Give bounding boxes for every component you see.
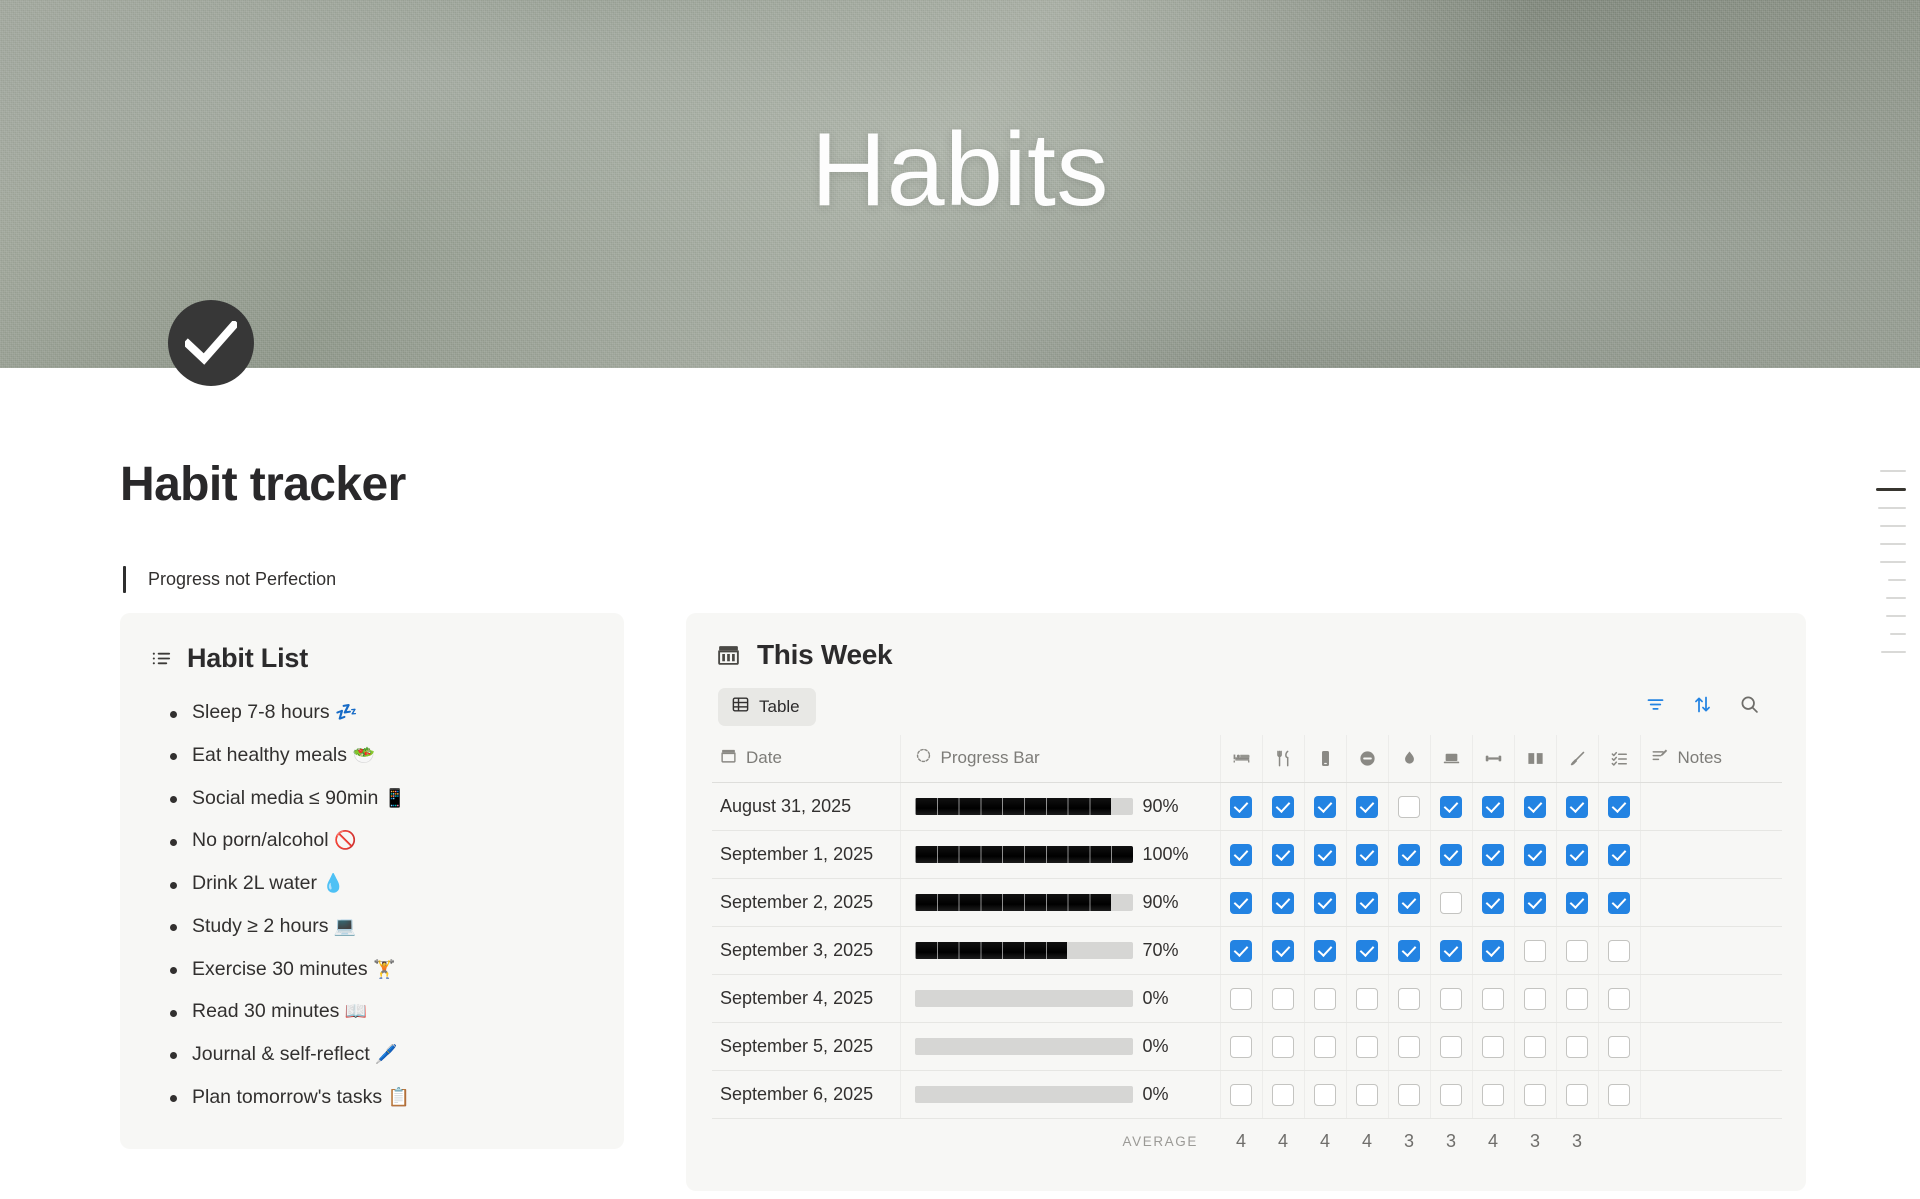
list-item: Study ≥ 2 hours 💻: [192, 905, 598, 948]
list-item: Read 30 minutes 📖: [192, 991, 598, 1034]
cell-checkbox[interactable]: [1598, 1071, 1640, 1119]
checkbox-checked[interactable]: [1566, 796, 1588, 818]
cell-checkbox[interactable]: [1430, 927, 1472, 975]
checkbox-checked[interactable]: [1440, 940, 1462, 962]
notes-icon: [1651, 747, 1669, 770]
checkbox-checked[interactable]: [1314, 940, 1336, 962]
quote-accent-bar: [123, 566, 126, 593]
checkbox-checked[interactable]: [1272, 892, 1294, 914]
cell-checkbox[interactable]: [1388, 879, 1430, 927]
checkbox-unchecked[interactable]: [1272, 1084, 1294, 1106]
habit-label: Exercise 30 minutes: [192, 958, 368, 980]
cell-checkbox[interactable]: [1220, 783, 1262, 831]
checkbox-checked[interactable]: [1524, 844, 1546, 866]
cell-checkbox[interactable]: [1598, 831, 1640, 879]
checkbox-checked[interactable]: [1314, 796, 1336, 818]
cover-banner: Habits: [0, 0, 1920, 368]
cell-checkbox[interactable]: [1388, 1023, 1430, 1071]
bulleted-list-icon: [150, 647, 173, 670]
checkbox-checked[interactable]: [1356, 796, 1378, 818]
cell-checkbox[interactable]: [1262, 975, 1304, 1023]
column-header-notes[interactable]: Notes: [1640, 735, 1782, 783]
cell-checkbox[interactable]: [1556, 975, 1598, 1023]
database-toolbar: Table: [712, 685, 1782, 729]
cell-checkbox[interactable]: [1220, 975, 1262, 1023]
checkbox-unchecked[interactable]: [1230, 1084, 1252, 1106]
check-circle-icon[interactable]: [168, 300, 254, 386]
average-row: AVERAGE 4 4 4 4 3 3 4 3 3: [712, 1119, 1782, 1165]
checkbox-unchecked[interactable]: [1566, 1036, 1588, 1058]
cell-checkbox[interactable]: [1514, 1071, 1556, 1119]
cell-checkbox[interactable]: [1346, 1071, 1388, 1119]
checkbox-unchecked[interactable]: [1524, 1084, 1546, 1106]
progress-bar-fill: [915, 942, 1068, 959]
average-value: 4: [1220, 1119, 1262, 1165]
cell-checkbox[interactable]: [1346, 975, 1388, 1023]
column-header-water[interactable]: [1388, 735, 1430, 783]
checkbox-unchecked[interactable]: [1398, 1084, 1420, 1106]
checkbox-checked[interactable]: [1398, 844, 1420, 866]
cell-checkbox[interactable]: [1430, 879, 1472, 927]
checkbox-unchecked[interactable]: [1524, 988, 1546, 1010]
habit-label: Eat healthy meals: [192, 744, 347, 766]
cell-progress: 0%: [900, 975, 1220, 1023]
cell-notes[interactable]: [1640, 831, 1782, 879]
outline-rail-item[interactable]: [1880, 525, 1906, 527]
cell-checkbox[interactable]: [1304, 927, 1346, 975]
checkbox-unchecked[interactable]: [1230, 988, 1252, 1010]
outline-rail[interactable]: [1876, 470, 1906, 653]
column-header-date-label: Date: [746, 748, 782, 768]
checkbox-unchecked[interactable]: [1482, 1036, 1504, 1058]
checkbox-checked[interactable]: [1230, 844, 1252, 866]
column-header-meals[interactable]: [1262, 735, 1304, 783]
cell-notes[interactable]: [1640, 975, 1782, 1023]
habit-label: Plan tomorrow's tasks: [192, 1086, 382, 1108]
column-header-progress[interactable]: Progress Bar: [900, 735, 1220, 783]
cell-progress: 70%: [900, 927, 1220, 975]
cell-checkbox[interactable]: [1598, 879, 1640, 927]
habit-emoji: 🏋️: [373, 959, 395, 979]
checkbox-checked[interactable]: [1272, 796, 1294, 818]
table-row[interactable]: September 2, 202590%: [712, 879, 1782, 927]
habit-emoji: 💧: [322, 873, 344, 893]
cell-progress: 90%: [900, 879, 1220, 927]
fork-knife-icon: [1263, 749, 1304, 768]
checkbox-unchecked[interactable]: [1566, 940, 1588, 962]
checkbox-checked[interactable]: [1482, 892, 1504, 914]
habit-emoji: 📖: [345, 1001, 367, 1021]
column-header-exercise[interactable]: [1472, 735, 1514, 783]
cell-checkbox[interactable]: [1388, 783, 1430, 831]
habit-emoji: 📋: [388, 1087, 410, 1107]
progress-percent: 0%: [1143, 1036, 1169, 1057]
checkbox-unchecked[interactable]: [1440, 1084, 1462, 1106]
checkbox-checked[interactable]: [1356, 892, 1378, 914]
average-value: 4: [1262, 1119, 1304, 1165]
calendar-icon: [716, 642, 741, 667]
cell-progress: 90%: [900, 783, 1220, 831]
outline-rail-item[interactable]: [1888, 579, 1906, 581]
habit-list-header: Habit List: [150, 643, 598, 674]
outline-rail-item[interactable]: [1880, 470, 1906, 472]
checkbox-checked[interactable]: [1566, 844, 1588, 866]
checkbox-checked[interactable]: [1314, 892, 1336, 914]
cell-checkbox[interactable]: [1598, 927, 1640, 975]
checkbox-checked[interactable]: [1272, 844, 1294, 866]
table-row[interactable]: September 1, 2025100%: [712, 831, 1782, 879]
table-row[interactable]: September 3, 202570%: [712, 927, 1782, 975]
list-item: No porn/alcohol 🚫: [192, 820, 598, 863]
quote-text: Progress not Perfection: [148, 569, 336, 590]
cell-checkbox[interactable]: [1388, 975, 1430, 1023]
checkbox-unchecked[interactable]: [1272, 988, 1294, 1010]
progress-bar: [915, 942, 1133, 959]
cell-checkbox[interactable]: [1598, 1023, 1640, 1071]
habit-label: Sleep 7-8 hours: [192, 701, 330, 723]
outline-rail-item[interactable]: [1886, 597, 1906, 599]
checkbox-unchecked[interactable]: [1356, 988, 1378, 1010]
tab-table-label: Table: [759, 697, 800, 717]
water-drop-icon: [1389, 749, 1430, 768]
cell-date[interactable]: September 3, 2025: [712, 927, 900, 975]
cell-checkbox[interactable]: [1346, 783, 1388, 831]
habit-emoji: 🖊️: [375, 1044, 397, 1064]
page-content: Habit tracker Progress not Perfection: [0, 456, 1920, 1199]
checkbox-checked[interactable]: [1356, 940, 1378, 962]
cell-checkbox[interactable]: [1220, 1023, 1262, 1071]
checkbox-unchecked[interactable]: [1482, 988, 1504, 1010]
progress-bar: [915, 1038, 1133, 1055]
column-header-plan[interactable]: [1598, 735, 1640, 783]
average-value: [1598, 1119, 1640, 1165]
habit-emoji: 🚫: [334, 830, 356, 850]
checkbox-unchecked[interactable]: [1482, 1084, 1504, 1106]
this-week-card: This Week Table: [686, 613, 1806, 1191]
table-footer: AVERAGE 4 4 4 4 3 3 4 3 3: [712, 1119, 1782, 1165]
cell-checkbox[interactable]: [1388, 1071, 1430, 1119]
progress-bar: [915, 1086, 1133, 1103]
open-book-icon: [1515, 749, 1556, 768]
cell-notes[interactable]: [1640, 927, 1782, 975]
table-row[interactable]: September 4, 20250%: [712, 975, 1782, 1023]
cell-checkbox[interactable]: [1514, 1023, 1556, 1071]
cell-checkbox[interactable]: [1514, 879, 1556, 927]
habit-items-list: Sleep 7-8 hours 💤 Eat healthy meals 🥗 So…: [150, 692, 598, 1119]
cell-progress: 0%: [900, 1071, 1220, 1119]
progress-percent: 70%: [1143, 940, 1179, 961]
checkbox-unchecked[interactable]: [1608, 1084, 1630, 1106]
habit-emoji: 💤: [335, 702, 357, 722]
progress-bar: [915, 894, 1133, 911]
table-icon: [731, 695, 750, 719]
habit-label: No porn/alcohol: [192, 829, 329, 851]
checkbox-checked[interactable]: [1230, 892, 1252, 914]
column-header-journal[interactable]: [1556, 735, 1598, 783]
habit-label: Study ≥ 2 hours: [192, 915, 328, 937]
paintbrush-icon: [1557, 749, 1598, 768]
cell-checkbox[interactable]: [1346, 1023, 1388, 1071]
habit-emoji: 📱: [384, 788, 406, 808]
checkbox-checked[interactable]: [1608, 892, 1630, 914]
progress-percent: 0%: [1143, 1084, 1169, 1105]
cell-notes[interactable]: [1640, 1023, 1782, 1071]
progress-bar: [915, 846, 1133, 863]
checkbox-unchecked[interactable]: [1608, 1036, 1630, 1058]
progress-bar-fill: [915, 894, 1111, 911]
checkbox-checked[interactable]: [1398, 892, 1420, 914]
cell-checkbox[interactable]: [1430, 783, 1472, 831]
average-value: 3: [1514, 1119, 1556, 1165]
cell-notes[interactable]: [1640, 1071, 1782, 1119]
progress-percent: 100%: [1143, 844, 1189, 865]
cell-checkbox[interactable]: [1304, 783, 1346, 831]
checkbox-unchecked[interactable]: [1440, 988, 1462, 1010]
cell-checkbox[interactable]: [1472, 783, 1514, 831]
list-item: Sleep 7-8 hours 💤: [192, 692, 598, 735]
column-header-read[interactable]: [1514, 735, 1556, 783]
toolbar-actions: [1645, 694, 1774, 720]
bed-icon: [1221, 749, 1262, 768]
average-value: 3: [1388, 1119, 1430, 1165]
cell-checkbox[interactable]: [1556, 927, 1598, 975]
cell-date[interactable]: September 6, 2025: [712, 1071, 900, 1119]
list-item: Social media ≤ 90min 📱: [192, 777, 598, 820]
table-body: August 31, 202590%September 1, 2025100%S…: [712, 783, 1782, 1119]
table-row[interactable]: September 6, 20250%: [712, 1071, 1782, 1119]
average-value: 3: [1556, 1119, 1598, 1165]
dumbbell-icon: [1473, 749, 1514, 768]
list-item: Journal & self-reflect 🖊️: [192, 1033, 598, 1076]
checkbox-checked[interactable]: [1482, 940, 1504, 962]
checkbox-unchecked[interactable]: [1398, 988, 1420, 1010]
cell-checkbox[interactable]: [1472, 927, 1514, 975]
checkbox-checked[interactable]: [1608, 844, 1630, 866]
checkbox-unchecked[interactable]: [1356, 1036, 1378, 1058]
checkbox-checked[interactable]: [1398, 940, 1420, 962]
checkbox-checked[interactable]: [1440, 796, 1462, 818]
cell-checkbox[interactable]: [1556, 879, 1598, 927]
checklist-icon: [1599, 749, 1640, 768]
cell-date[interactable]: September 2, 2025: [712, 879, 900, 927]
cell-checkbox[interactable]: [1430, 975, 1472, 1023]
cell-checkbox[interactable]: [1304, 879, 1346, 927]
checkbox-checked[interactable]: [1482, 844, 1504, 866]
checkbox-unchecked[interactable]: [1314, 988, 1336, 1010]
checkbox-unchecked[interactable]: [1566, 1084, 1588, 1106]
outline-rail-item[interactable]: [1881, 651, 1906, 653]
cell-checkbox[interactable]: [1472, 1023, 1514, 1071]
habit-table: Date Progress Bar: [712, 735, 1782, 1165]
cell-checkbox[interactable]: [1472, 879, 1514, 927]
checkbox-unchecked[interactable]: [1608, 940, 1630, 962]
cell-checkbox[interactable]: [1472, 1071, 1514, 1119]
progress-ring-icon: [915, 747, 932, 769]
column-header-study[interactable]: [1430, 735, 1472, 783]
cell-checkbox[interactable]: [1430, 1023, 1472, 1071]
checkbox-checked[interactable]: [1230, 796, 1252, 818]
cell-checkbox[interactable]: [1556, 783, 1598, 831]
search-icon[interactable]: [1739, 694, 1760, 720]
checkbox-unchecked[interactable]: [1314, 1036, 1336, 1058]
list-item: Drink 2L water 💧: [192, 863, 598, 906]
progress-bar: [915, 990, 1133, 1007]
checkbox-unchecked[interactable]: [1230, 1036, 1252, 1058]
average-value: 4: [1346, 1119, 1388, 1165]
list-item: Exercise 30 minutes 🏋️: [192, 948, 598, 991]
checkbox-checked[interactable]: [1356, 844, 1378, 866]
cell-checkbox[interactable]: [1346, 879, 1388, 927]
column-header-social[interactable]: [1304, 735, 1346, 783]
cell-checkbox[interactable]: [1220, 879, 1262, 927]
cell-date[interactable]: September 5, 2025: [712, 1023, 900, 1071]
column-header-notes-label: Notes: [1678, 748, 1722, 768]
progress-bar-fill: [915, 846, 1133, 863]
table-header: Date Progress Bar: [712, 735, 1782, 783]
progress-percent: 0%: [1143, 988, 1169, 1009]
cell-checkbox[interactable]: [1346, 831, 1388, 879]
average-value: 3: [1430, 1119, 1472, 1165]
content-columns: Habit List Sleep 7-8 hours 💤 Eat healthy…: [120, 613, 1920, 1191]
quote-block: Progress not Perfection: [123, 566, 1920, 593]
checkbox-checked[interactable]: [1314, 844, 1336, 866]
checkbox-unchecked[interactable]: [1524, 940, 1546, 962]
checkbox-checked[interactable]: [1566, 892, 1588, 914]
cell-checkbox[interactable]: [1430, 1071, 1472, 1119]
outline-rail-item-active[interactable]: [1876, 488, 1906, 491]
cell-checkbox[interactable]: [1220, 831, 1262, 879]
cell-progress: 100%: [900, 831, 1220, 879]
checkbox-unchecked[interactable]: [1524, 1036, 1546, 1058]
cell-notes[interactable]: [1640, 879, 1782, 927]
cell-checkbox[interactable]: [1304, 1023, 1346, 1071]
progress-percent: 90%: [1143, 796, 1179, 817]
cell-checkbox[interactable]: [1514, 831, 1556, 879]
cell-checkbox[interactable]: [1472, 831, 1514, 879]
outline-rail-item[interactable]: [1890, 633, 1906, 635]
checkbox-unchecked[interactable]: [1272, 1036, 1294, 1058]
column-header-sleep[interactable]: [1220, 735, 1262, 783]
checkbox-unchecked[interactable]: [1314, 1084, 1336, 1106]
cell-checkbox[interactable]: [1262, 879, 1304, 927]
phone-icon: [1305, 749, 1346, 768]
habit-emoji: 💻: [334, 916, 356, 936]
list-item: Plan tomorrow's tasks 📋: [192, 1076, 598, 1119]
cell-date[interactable]: September 4, 2025: [712, 975, 900, 1023]
average-label: AVERAGE: [900, 1119, 1220, 1165]
checkbox-unchecked[interactable]: [1356, 1084, 1378, 1106]
cell-checkbox[interactable]: [1346, 927, 1388, 975]
cell-checkbox[interactable]: [1304, 831, 1346, 879]
cell-checkbox[interactable]: [1262, 927, 1304, 975]
checkbox-unchecked[interactable]: [1608, 988, 1630, 1010]
laptop-icon: [1431, 749, 1472, 768]
cell-checkbox[interactable]: [1556, 831, 1598, 879]
checkbox-checked[interactable]: [1440, 844, 1462, 866]
cell-date[interactable]: August 31, 2025: [712, 783, 900, 831]
habit-list-card: Habit List Sleep 7-8 hours 💤 Eat healthy…: [120, 613, 624, 1149]
habit-label: Drink 2L water: [192, 872, 317, 894]
calendar-icon: [720, 747, 737, 769]
checkbox-unchecked[interactable]: [1440, 892, 1462, 914]
checkbox-unchecked[interactable]: [1440, 1036, 1462, 1058]
page-title: Habit tracker: [120, 456, 1920, 514]
checkbox-unchecked[interactable]: [1398, 796, 1420, 818]
checkbox-checked[interactable]: [1524, 796, 1546, 818]
cell-checkbox[interactable]: [1220, 1071, 1262, 1119]
cell-checkbox[interactable]: [1262, 783, 1304, 831]
cell-checkbox[interactable]: [1220, 927, 1262, 975]
cell-checkbox[interactable]: [1388, 927, 1430, 975]
outline-rail-item[interactable]: [1880, 561, 1906, 563]
average-notes-spacer: [1640, 1119, 1782, 1165]
ban-icon: [1347, 749, 1388, 768]
cell-checkbox[interactable]: [1262, 831, 1304, 879]
cell-checkbox[interactable]: [1598, 783, 1640, 831]
table-header-row: Date Progress Bar: [712, 735, 1782, 783]
cell-date[interactable]: September 1, 2025: [712, 831, 900, 879]
habit-label: Journal & self-reflect: [192, 1043, 370, 1065]
cell-checkbox[interactable]: [1430, 831, 1472, 879]
this-week-header: This Week: [712, 639, 1782, 671]
progress-bar: [915, 798, 1133, 815]
cell-checkbox[interactable]: [1514, 975, 1556, 1023]
cover-title: Habits: [0, 118, 1920, 222]
list-item: Eat healthy meals 🥗: [192, 734, 598, 777]
filter-icon[interactable]: [1645, 694, 1666, 720]
cell-checkbox[interactable]: [1556, 1071, 1598, 1119]
cell-checkbox[interactable]: [1556, 1023, 1598, 1071]
column-header-progress-label: Progress Bar: [941, 748, 1040, 768]
cell-checkbox[interactable]: [1262, 1023, 1304, 1071]
outline-rail-item[interactable]: [1880, 543, 1906, 545]
tab-table-view[interactable]: Table: [718, 688, 816, 726]
average-spacer: [712, 1119, 900, 1165]
progress-percent: 90%: [1143, 892, 1179, 913]
cell-checkbox[interactable]: [1304, 1071, 1346, 1119]
checkbox-checked[interactable]: [1524, 892, 1546, 914]
average-value: 4: [1472, 1119, 1514, 1165]
cell-checkbox[interactable]: [1472, 975, 1514, 1023]
habit-label: Read 30 minutes: [192, 1000, 339, 1022]
checkbox-unchecked[interactable]: [1566, 988, 1588, 1010]
column-header-date[interactable]: Date: [712, 735, 900, 783]
cell-progress: 0%: [900, 1023, 1220, 1071]
checkbox-checked[interactable]: [1608, 796, 1630, 818]
cell-checkbox[interactable]: [1304, 975, 1346, 1023]
outline-rail-item[interactable]: [1878, 507, 1906, 509]
column-header-no-porn-alcohol[interactable]: [1346, 735, 1388, 783]
progress-bar-fill: [915, 798, 1111, 815]
sort-icon[interactable]: [1692, 694, 1713, 720]
cell-checkbox[interactable]: [1598, 975, 1640, 1023]
checkbox-checked[interactable]: [1272, 940, 1294, 962]
habit-emoji: 🥗: [352, 745, 374, 765]
checkbox-checked[interactable]: [1482, 796, 1504, 818]
cell-checkbox[interactable]: [1388, 831, 1430, 879]
checkbox-checked[interactable]: [1230, 940, 1252, 962]
table-row[interactable]: September 5, 20250%: [712, 1023, 1782, 1071]
checkbox-unchecked[interactable]: [1398, 1036, 1420, 1058]
table-row[interactable]: August 31, 202590%: [712, 783, 1782, 831]
habit-list-title: Habit List: [187, 643, 308, 674]
cell-checkbox[interactable]: [1262, 1071, 1304, 1119]
outline-rail-item[interactable]: [1886, 615, 1906, 617]
cell-checkbox[interactable]: [1514, 927, 1556, 975]
cell-notes[interactable]: [1640, 783, 1782, 831]
this-week-title: This Week: [757, 639, 892, 671]
cell-checkbox[interactable]: [1514, 783, 1556, 831]
